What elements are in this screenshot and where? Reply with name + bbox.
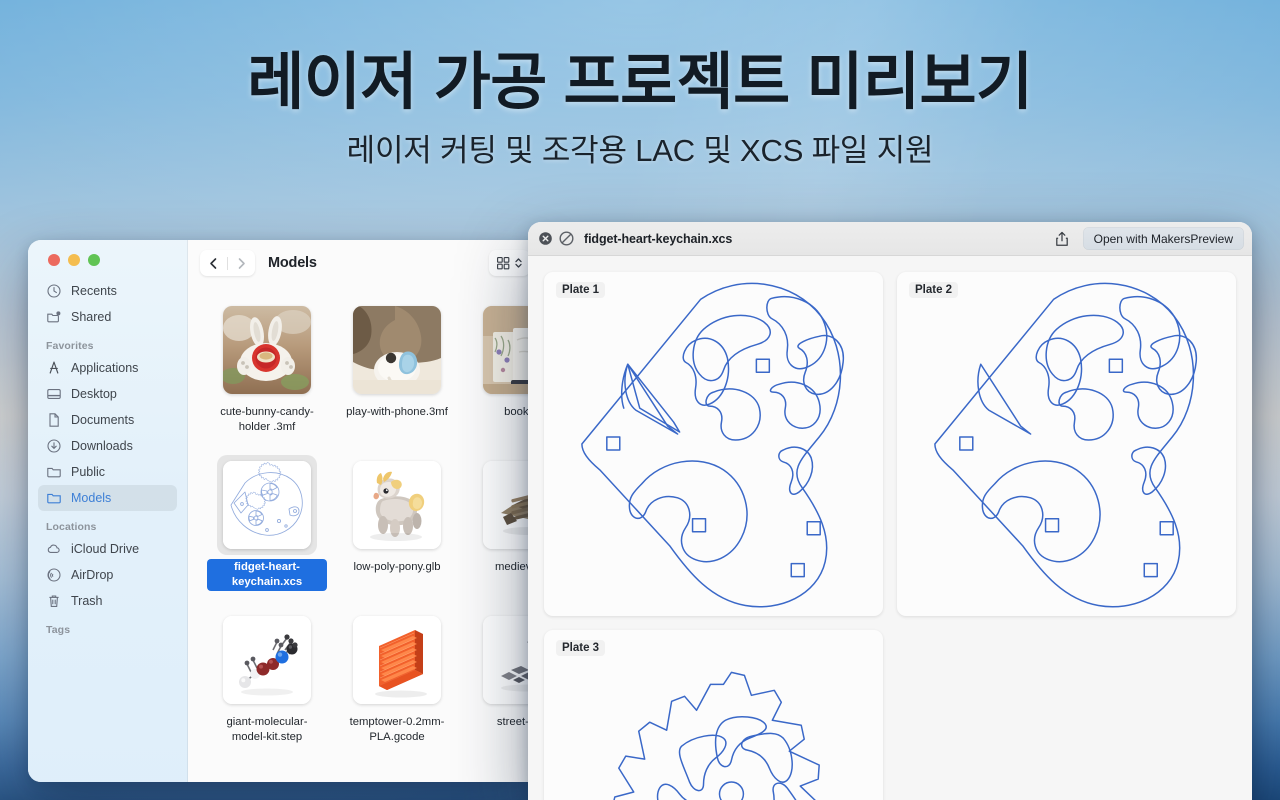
chevron-up-down-icon <box>514 256 523 270</box>
vector-gears-heart-thumbnail <box>223 461 311 549</box>
sidebar-item-label: Models <box>71 491 111 505</box>
sidebar-item-label: Recents <box>71 284 117 298</box>
downloads-icon <box>46 438 62 454</box>
open-with-button[interactable]: Open with MakersPreview <box>1083 227 1244 250</box>
trash-icon <box>46 593 62 609</box>
back-button[interactable] <box>200 250 227 276</box>
sidebar-item-label: AirDrop <box>71 568 113 582</box>
plate-panel[interactable]: Plate 3 <box>544 630 883 800</box>
thumb-wrap <box>217 610 317 710</box>
finder-main: Models <box>188 240 540 782</box>
thumb-wrap <box>347 300 447 400</box>
folder-icon <box>46 464 62 480</box>
finder-toolbar: Models <box>188 240 540 286</box>
forward-button[interactable] <box>228 250 255 276</box>
file-name: fidget-heart-keychain.xcs <box>207 559 327 591</box>
plate-label: Plate 2 <box>909 282 958 298</box>
preview-title: fidget-heart-keychain.xcs <box>584 232 732 246</box>
sidebar-item-public[interactable]: Public <box>38 459 177 485</box>
sidebar-group-locations: Locations <box>38 511 177 536</box>
heart-keychain-outline-vector <box>897 272 1236 616</box>
window-controls[interactable] <box>38 240 177 278</box>
sidebar-item-shared[interactable]: Shared <box>38 304 177 330</box>
file-item[interactable]: low-poly-pony.glb <box>332 451 462 606</box>
finder-window[interactable]: Recents Shared Favorites Applications <box>28 240 540 782</box>
sidebar-item-desktop[interactable]: Desktop <box>38 381 177 407</box>
file-name: giant-molecular-model-kit.step <box>207 714 327 746</box>
file-item[interactable]: play-with-phone.3mf <box>332 296 462 451</box>
sidebar-group-tags: Tags <box>38 614 177 639</box>
bunny-photo-thumbnail <box>223 306 311 394</box>
desktop-icon <box>46 386 62 402</box>
plate-panel[interactable]: Plate 1 <box>544 272 883 616</box>
clock-icon <box>46 283 62 299</box>
sidebar-group-favorites: Favorites <box>38 330 177 355</box>
pony-model-thumbnail <box>353 461 441 549</box>
sidebar-item-downloads[interactable]: Downloads <box>38 433 177 459</box>
navigation-buttons[interactable] <box>200 250 255 276</box>
zoom-button[interactable] <box>88 254 100 266</box>
preview-window[interactable]: fidget-heart-keychain.xcs Open with Make… <box>528 222 1252 800</box>
plate-label: Plate 3 <box>556 640 605 656</box>
close-circle-icon[interactable] <box>538 231 553 246</box>
file-grid[interactable]: cute-bunny-candy-holder .3mf <box>188 286 540 782</box>
thumb-wrap <box>347 455 447 555</box>
heart-keychain-outline-vector <box>544 272 883 616</box>
shared-folder-icon <box>46 309 62 325</box>
file-name: low-poly-pony.glb <box>349 559 444 576</box>
plate-label: Plate 1 <box>556 282 605 298</box>
plate-panel[interactable]: Plate 2 <box>897 272 1236 616</box>
file-item[interactable]: temptower-0.2mm-PLA.gcode <box>332 606 462 761</box>
grid-view-icon <box>496 256 511 271</box>
preview-titlebar: fidget-heart-keychain.xcs Open with Make… <box>528 222 1252 256</box>
sidebar-item-trash[interactable]: Trash <box>38 588 177 614</box>
airdrop-icon <box>46 567 62 583</box>
sidebar-item-label: Public <box>71 465 105 479</box>
thumb-wrap <box>217 455 317 555</box>
minimize-button[interactable] <box>68 254 80 266</box>
sidebar-item-icloud-drive[interactable]: iCloud Drive <box>38 536 177 562</box>
folder-icon <box>46 490 62 506</box>
sidebar-item-recents[interactable]: Recents <box>38 278 177 304</box>
file-item-selected[interactable]: fidget-heart-keychain.xcs <box>202 451 332 606</box>
applications-icon <box>46 360 62 376</box>
sidebar-item-label: Downloads <box>71 439 133 453</box>
sidebar-item-documents[interactable]: Documents <box>38 407 177 433</box>
sidebar-item-label: Documents <box>71 413 134 427</box>
file-name: play-with-phone.3mf <box>342 404 452 421</box>
file-item[interactable]: giant-molecular-model-kit.step <box>202 606 332 761</box>
finder-sidebar: Recents Shared Favorites Applications <box>28 240 188 782</box>
no-entry-circle-icon[interactable] <box>559 231 574 246</box>
cloud-icon <box>46 541 62 557</box>
close-button[interactable] <box>48 254 60 266</box>
temptower-model-thumbnail <box>353 616 441 704</box>
sidebar-item-applications[interactable]: Applications <box>38 355 177 381</box>
thumb-wrap <box>217 300 317 400</box>
sidebar-item-label: Shared <box>71 310 111 324</box>
document-icon <box>46 412 62 428</box>
sidebar-item-label: Trash <box>71 594 103 608</box>
sidebar-item-models[interactable]: Models <box>38 485 177 511</box>
path-title: Models <box>268 255 317 271</box>
sidebar-item-airdrop[interactable]: AirDrop <box>38 562 177 588</box>
molecule-model-thumbnail <box>223 616 311 704</box>
file-name: cute-bunny-candy-holder .3mf <box>207 404 327 436</box>
view-options-button[interactable] <box>489 250 530 276</box>
sidebar-item-label: Desktop <box>71 387 117 401</box>
thumb-wrap <box>347 610 447 710</box>
cat-photo-thumbnail <box>353 306 441 394</box>
share-icon[interactable] <box>1051 228 1073 250</box>
file-item[interactable]: cute-bunny-candy-holder .3mf <box>202 296 332 451</box>
file-name: temptower-0.2mm-PLA.gcode <box>337 714 457 746</box>
sidebar-item-label: Applications <box>71 361 138 375</box>
preview-body: Plate 1 <box>528 256 1252 800</box>
sidebar-item-label: iCloud Drive <box>71 542 139 556</box>
